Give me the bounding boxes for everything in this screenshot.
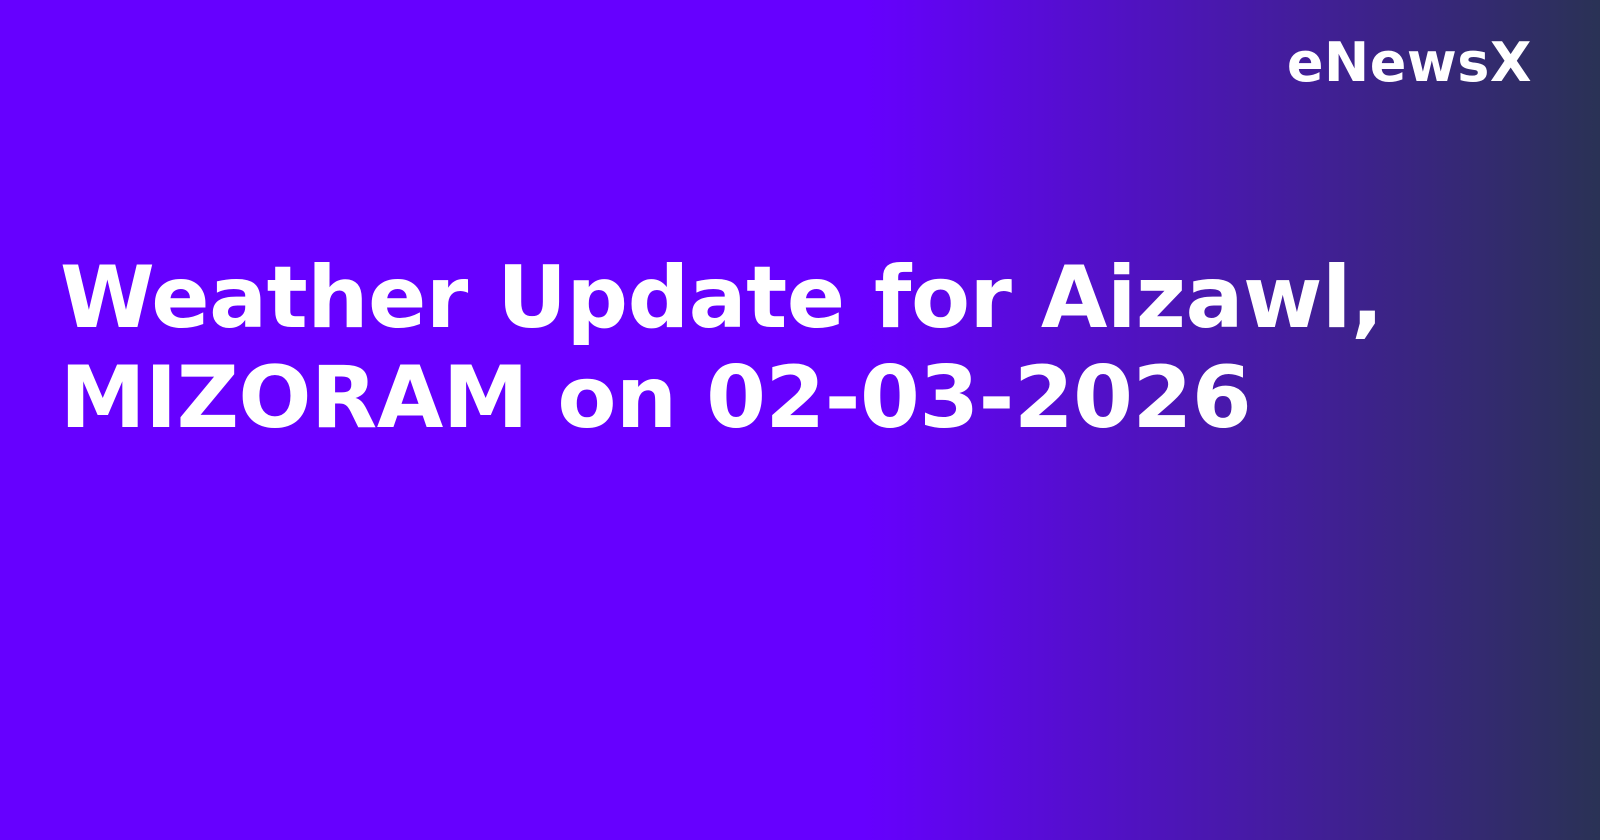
headline-line-2: MIZORAM on 02-03-2026 [60, 348, 1480, 448]
headline-line-1: Weather Update for Aizawl, [60, 248, 1480, 348]
headline-block: Weather Update for Aizawl, MIZORAM on 02… [60, 248, 1480, 448]
brand-logo[interactable]: eNewsX [1287, 32, 1532, 94]
news-banner: eNewsX Weather Update for Aizawl, MIZORA… [0, 0, 1600, 840]
